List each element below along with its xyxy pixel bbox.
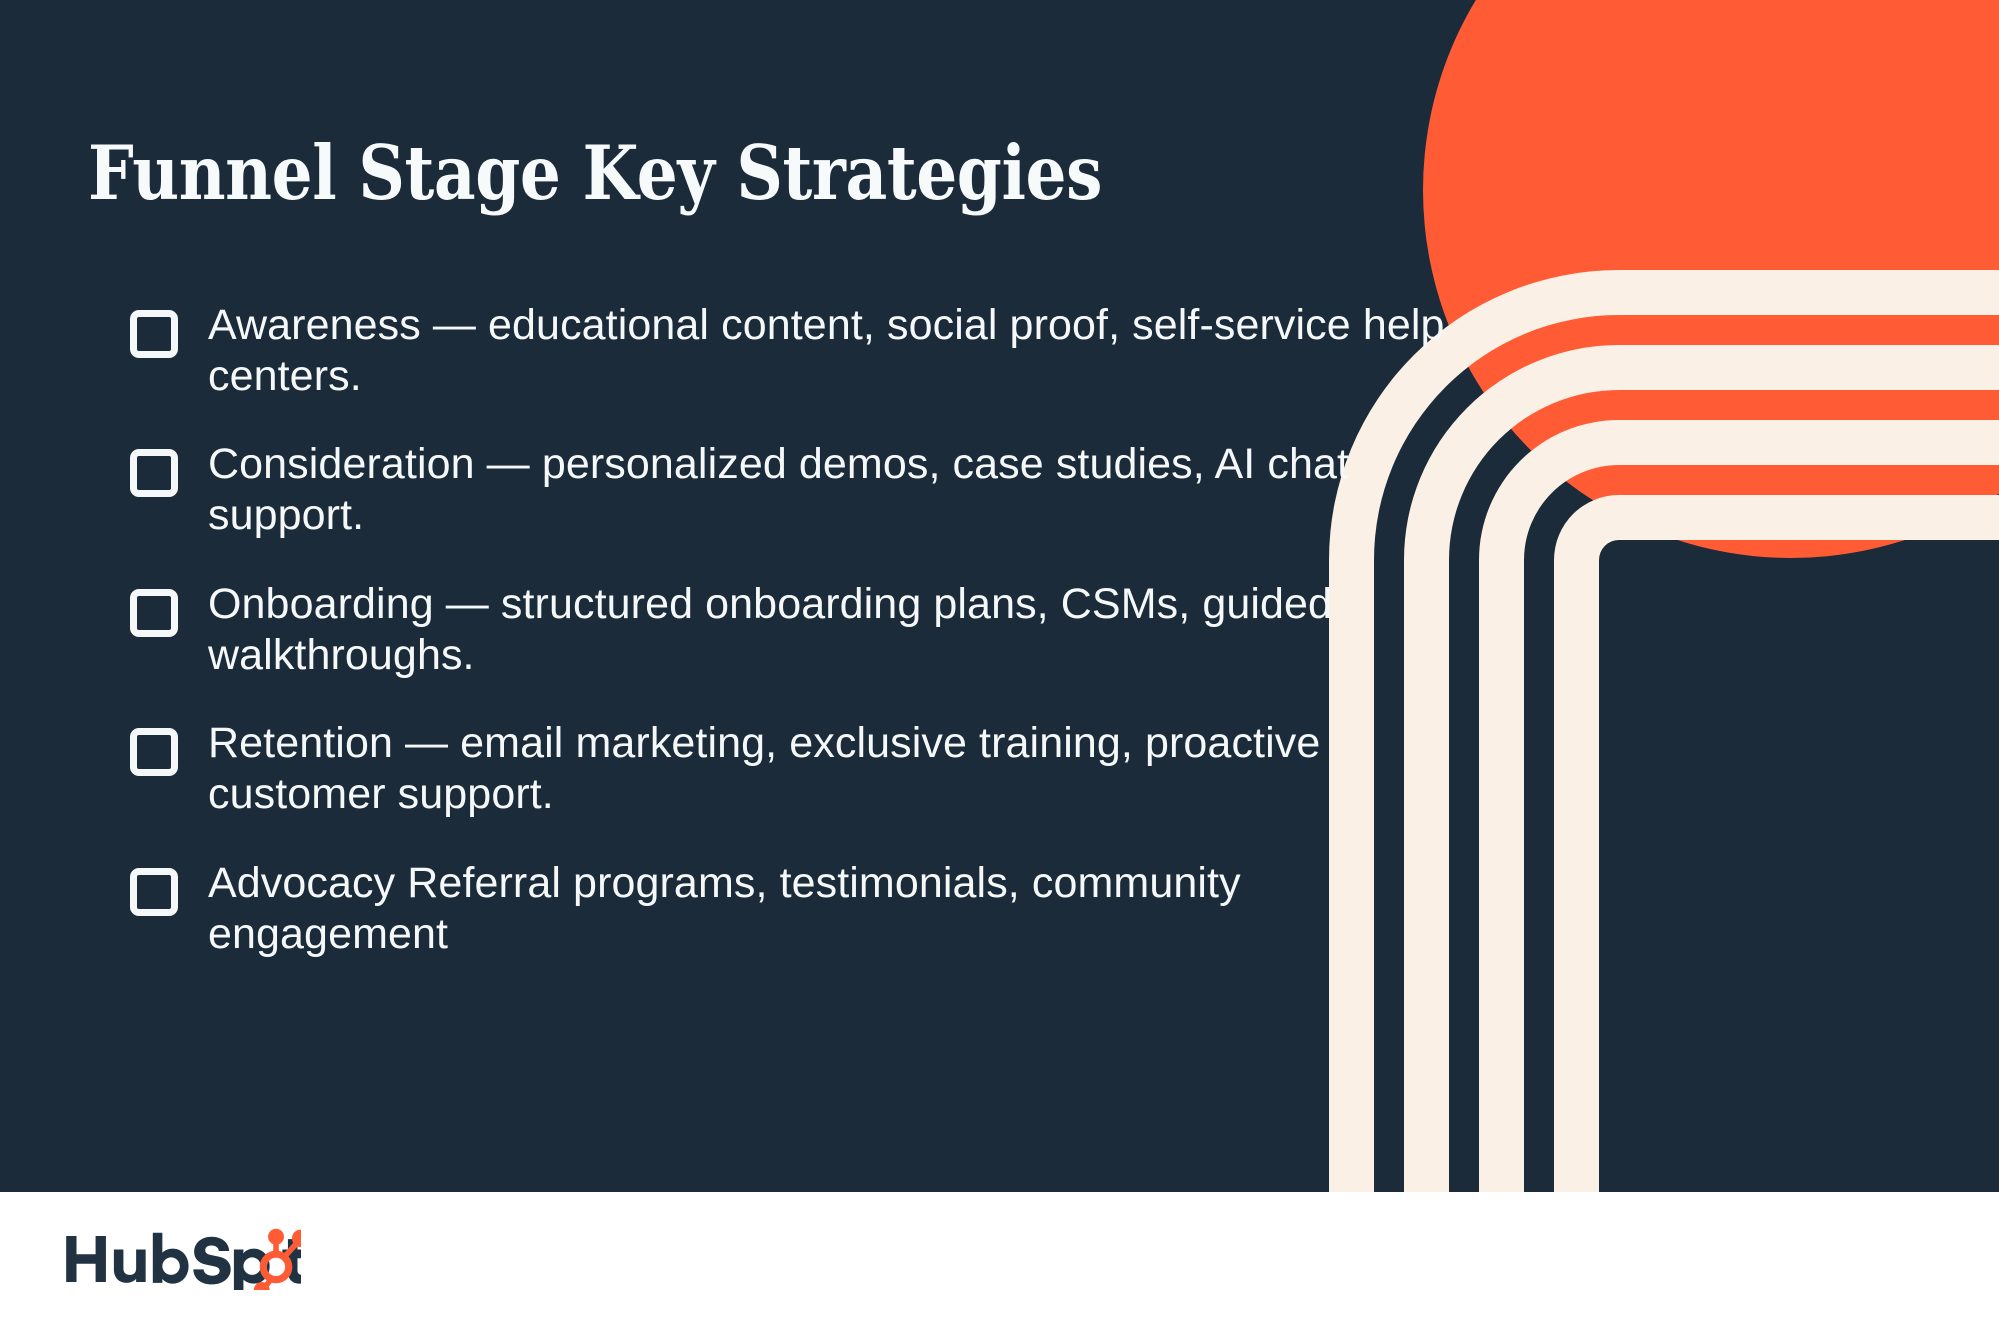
list-item[interactable]: Awareness — educational content, social … <box>130 300 1490 401</box>
checkbox-icon[interactable] <box>130 589 178 637</box>
list-item-label: Retention — email marketing, exclusive t… <box>208 718 1490 819</box>
list-item-label: Onboarding — structured onboarding plans… <box>208 579 1490 680</box>
list-item-label: Consideration — personalized demos, case… <box>208 439 1490 540</box>
page-title: Funnel Stage Key Strategies <box>88 136 1102 211</box>
arc-stripe-1 <box>1554 495 1999 1192</box>
strategy-checklist: Awareness — educational content, social … <box>130 300 1490 959</box>
list-item-label: Awareness — educational content, social … <box>208 300 1490 401</box>
slide-dark-panel: Funnel Stage Key Strategies Awareness — … <box>0 0 1999 1192</box>
list-item[interactable]: Advocacy Referral programs, testimonials… <box>130 858 1490 959</box>
slide-root: Funnel Stage Key Strategies Awareness — … <box>0 0 1999 1333</box>
arc-stripe-2 <box>1479 420 1999 1192</box>
checkbox-icon[interactable] <box>130 868 178 916</box>
arc-stripe-3 <box>1404 345 1999 1192</box>
slide-footer <box>0 1192 1999 1333</box>
checkbox-icon[interactable] <box>130 310 178 358</box>
hubspot-logo <box>63 1228 301 1290</box>
checkbox-icon[interactable] <box>130 728 178 776</box>
list-item[interactable]: Onboarding — structured onboarding plans… <box>130 579 1490 680</box>
list-item[interactable]: Consideration — personalized demos, case… <box>130 439 1490 540</box>
checkbox-icon[interactable] <box>130 449 178 497</box>
list-item[interactable]: Retention — email marketing, exclusive t… <box>130 718 1490 819</box>
orange-circle <box>1423 0 1999 558</box>
list-item-label: Advocacy Referral programs, testimonials… <box>208 858 1490 959</box>
